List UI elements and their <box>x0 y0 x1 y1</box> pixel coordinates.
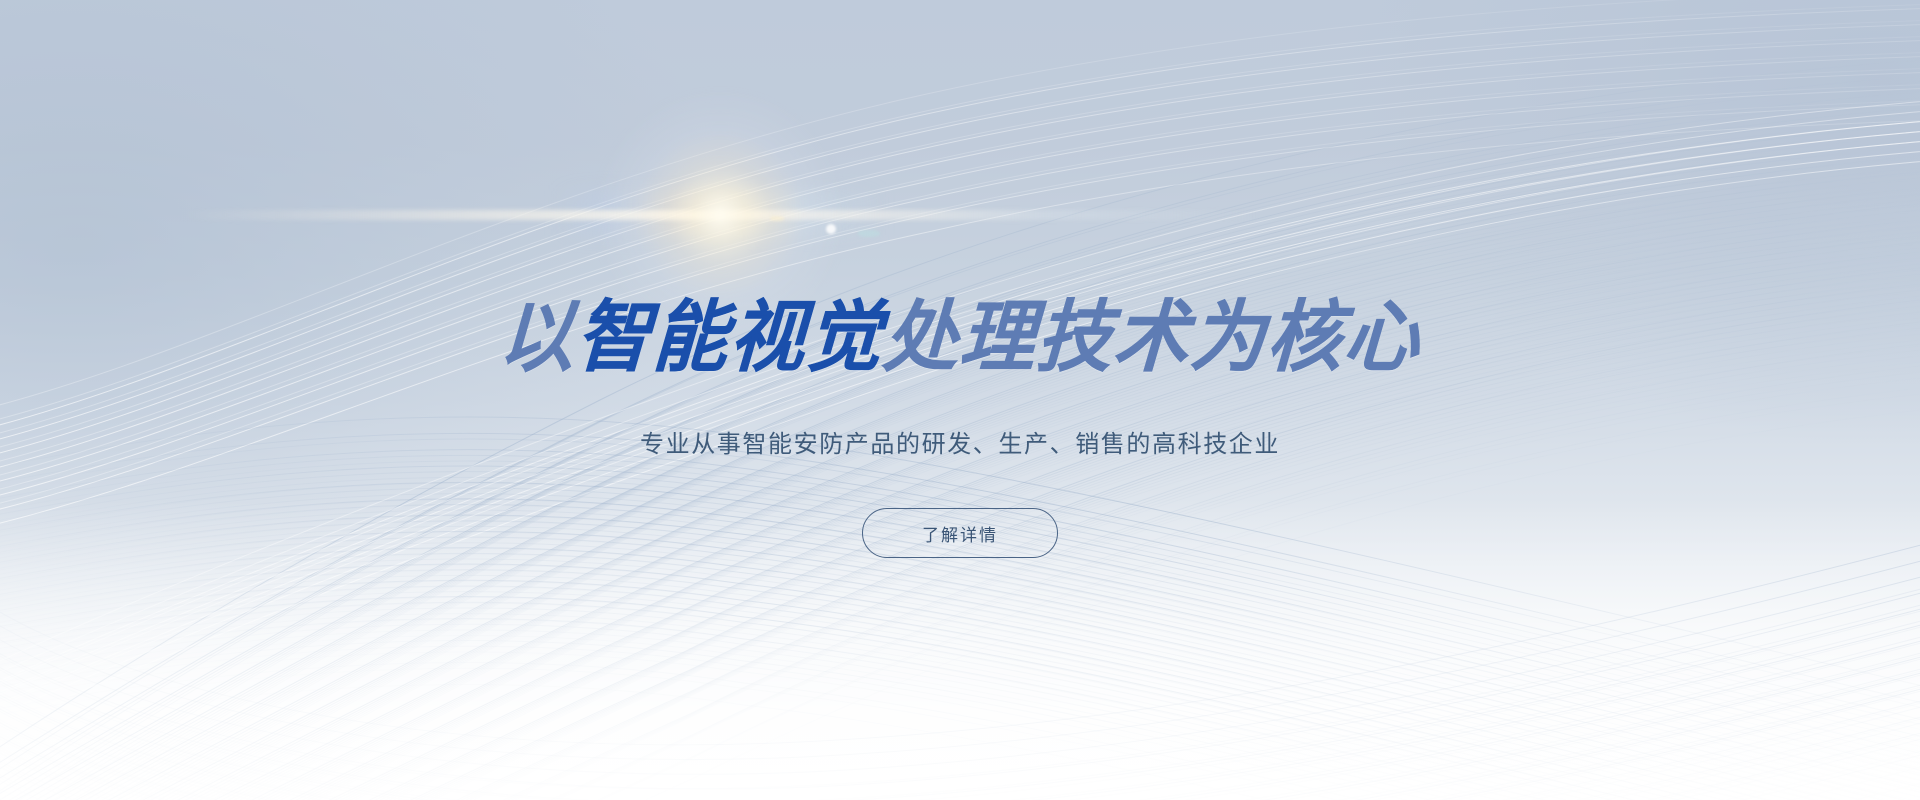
hero-content: 以智能视觉处理技术为核心 专业从事智能安防产品的研发、生产、销售的高科技企业 了… <box>0 0 1920 800</box>
page-title: 以智能视觉处理技术为核心 <box>36 298 1883 376</box>
cta-container: 了解详情 <box>0 508 1920 558</box>
headline-segment-1: 以 <box>497 298 578 376</box>
hero-banner: 以智能视觉处理技术为核心 专业从事智能安防产品的研发、生产、销售的高科技企业 了… <box>0 0 1920 800</box>
headline-segment-3: 处理技术为核心 <box>881 298 1423 376</box>
learn-more-button[interactable]: 了解详情 <box>862 508 1058 558</box>
page-subtitle: 专业从事智能安防产品的研发、生产、销售的高科技企业 <box>0 424 1920 459</box>
headline-segment-2: 智能视觉 <box>574 298 885 376</box>
